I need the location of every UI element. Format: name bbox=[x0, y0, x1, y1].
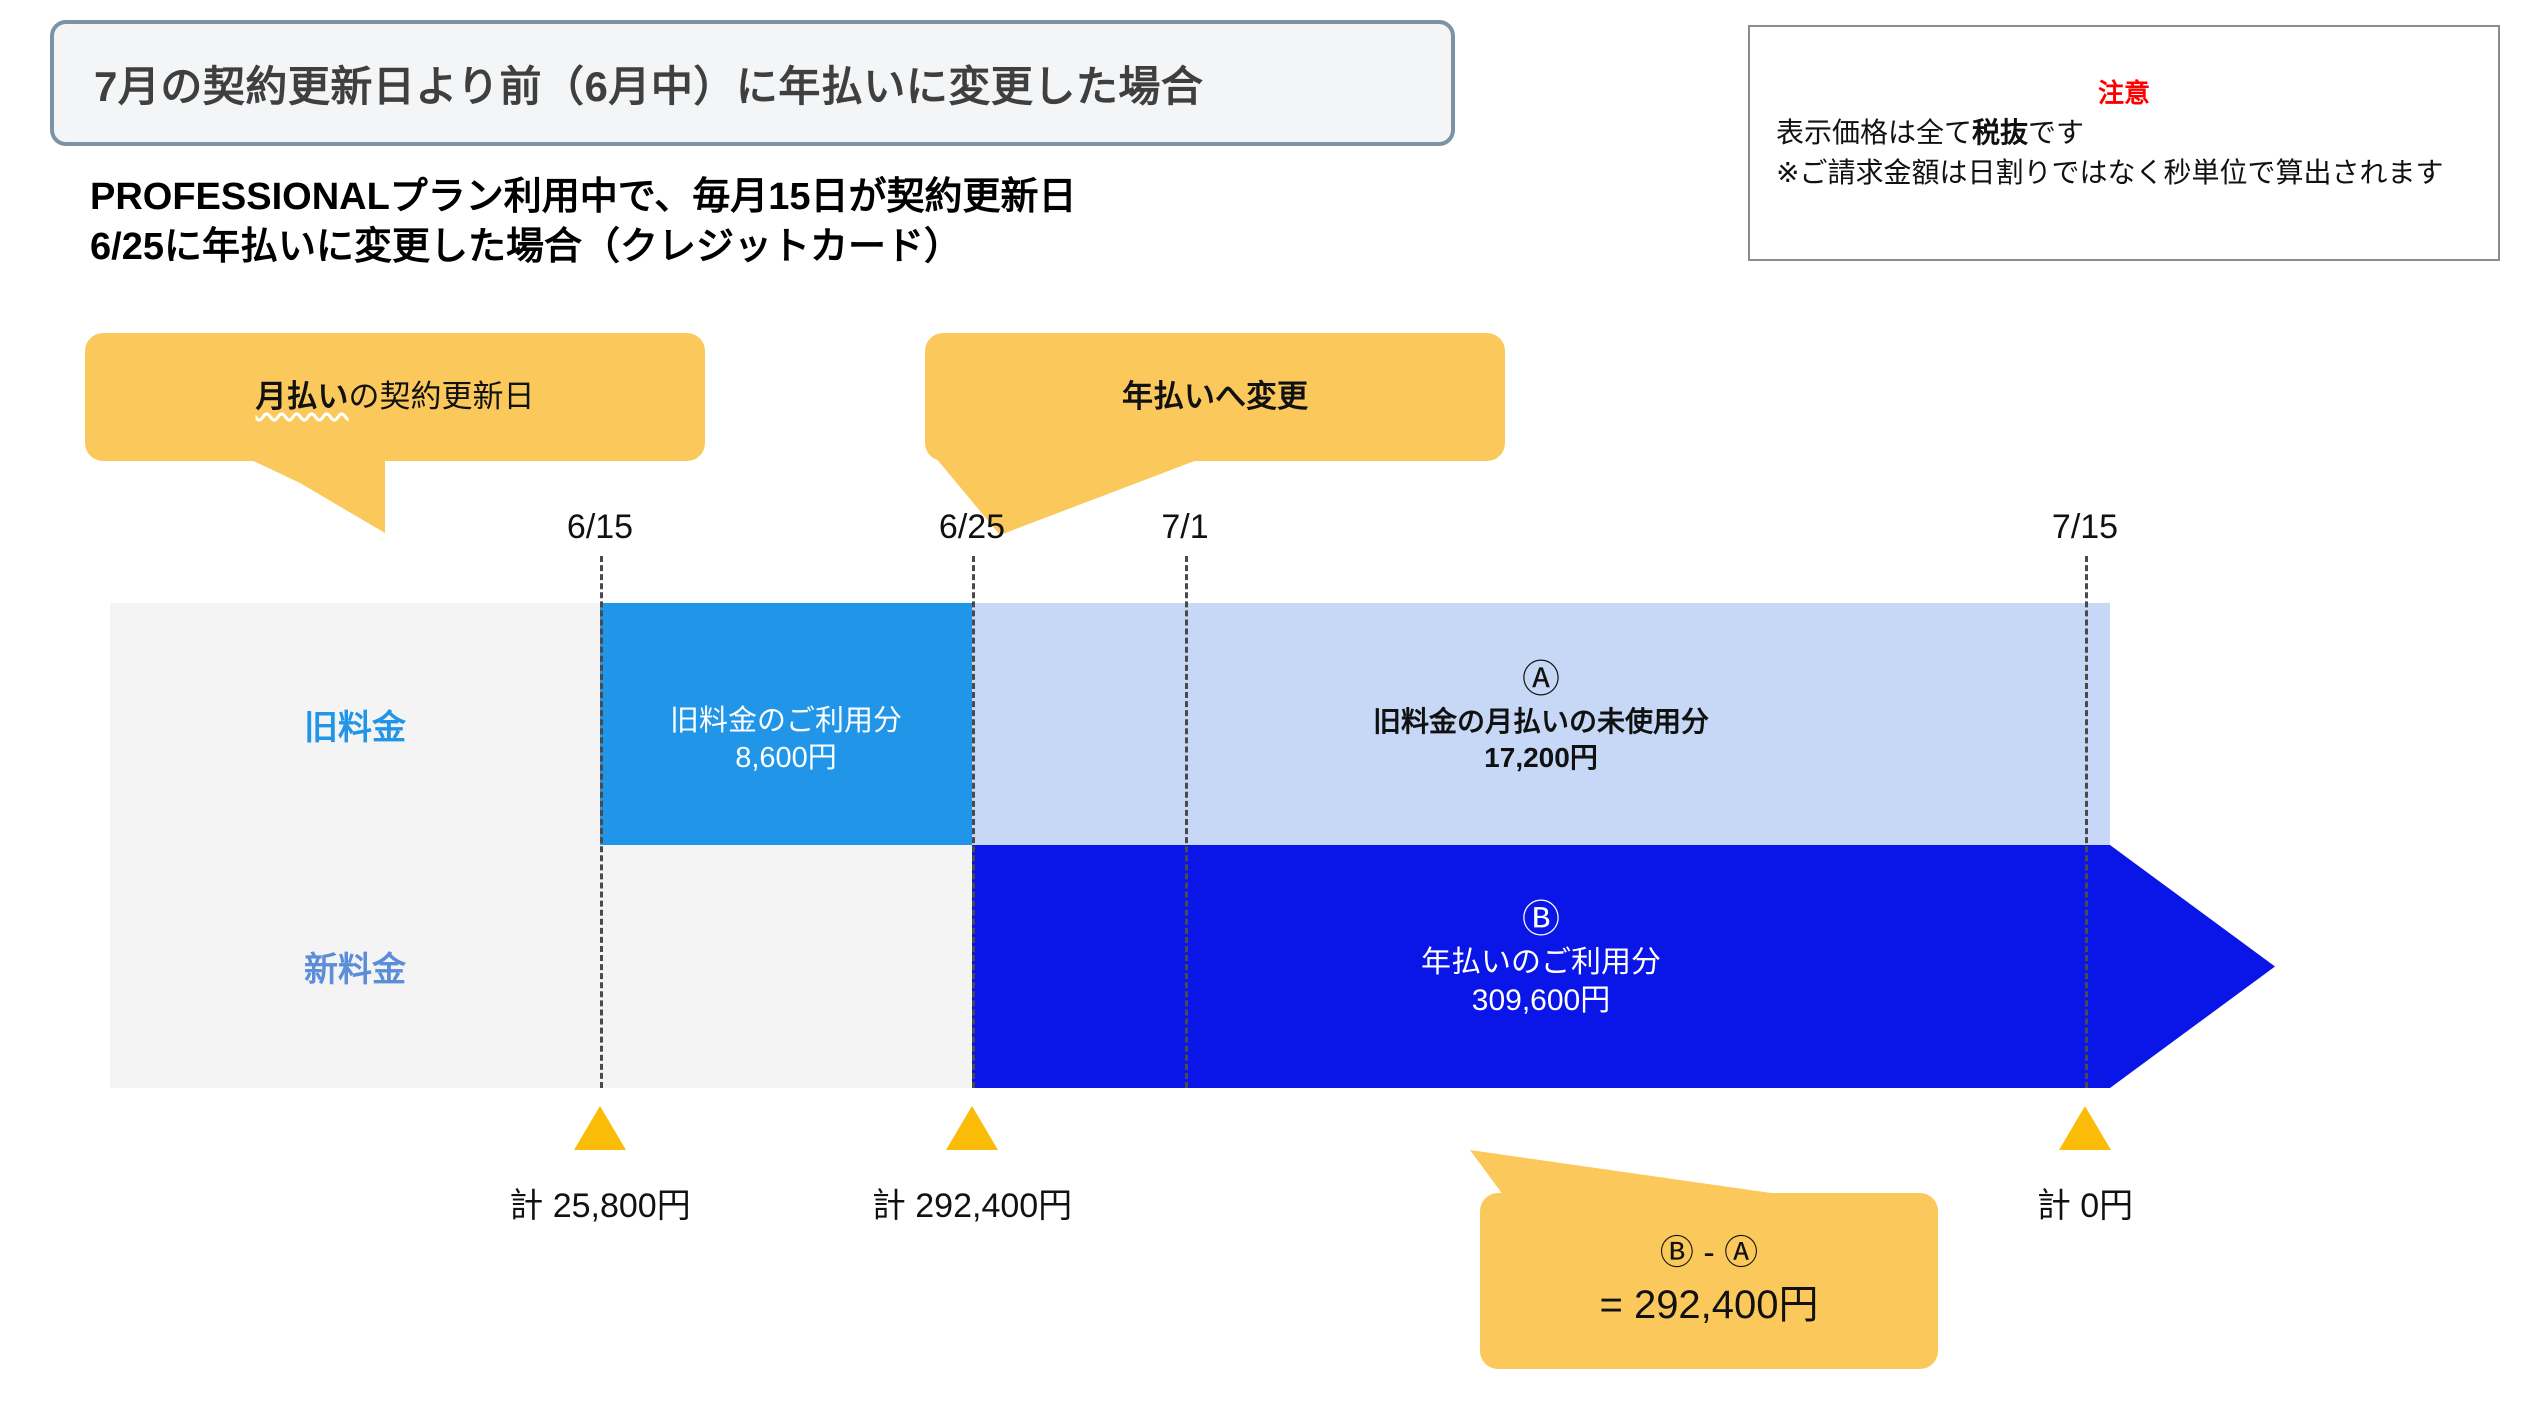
total-marker-0625 bbox=[946, 1106, 998, 1150]
callout-monthly-rest: の契約更新日 bbox=[349, 379, 535, 414]
subtitle-block: PROFESSIONALプラン利用中で、毎月15日が契約更新日 6/25に年払い… bbox=[90, 172, 1590, 272]
subtitle-line-1: PROFESSIONALプラン利用中で、毎月15日が契約更新日 bbox=[90, 172, 1590, 222]
total-label-0615: 計 25,800円 bbox=[509, 1178, 690, 1227]
callout-monthly-text: 月払いの契約更新日 bbox=[256, 378, 535, 417]
bar-label-old-unused-amount: 17,200円 bbox=[972, 740, 2110, 776]
row-label-old-fee: 旧料金 bbox=[304, 700, 406, 749]
page-title: 7月の契約更新日より前（6月中）に年払いに変更した場合 bbox=[94, 53, 1203, 114]
header-title-box: 7月の契約更新日より前（6月中）に年払いに変更した場合 bbox=[50, 20, 1455, 146]
date-label-0715: 7/15 bbox=[2052, 508, 2118, 547]
date-label-0701: 7/1 bbox=[1161, 508, 1208, 547]
marker-circled-b: Ⓑ bbox=[972, 900, 2110, 942]
bar-label-old-unused-title: 旧料金の月払いの未使用分 bbox=[972, 704, 2110, 740]
callout-annual-change: 年払いへ変更 bbox=[925, 333, 1505, 461]
callout-monthly-bold: 月払い bbox=[256, 379, 349, 414]
callout-difference-expression: Ⓑ - Ⓐ bbox=[1660, 1232, 1758, 1275]
bar-label-new-annual-title: 年払いのご利用分 bbox=[972, 944, 2110, 982]
callout-difference-result: = 292,400円 bbox=[1599, 1280, 1818, 1330]
notice-line-1-bold: 税抜 bbox=[1972, 117, 2028, 148]
bar-label-new-annual-amount: 309,600円 bbox=[972, 982, 2110, 1020]
notice-line-1-pre: 表示価格は全て bbox=[1776, 117, 1972, 148]
bar-label-old-used: 旧料金のご利用分 8,600円 bbox=[600, 703, 972, 777]
bar-label-old-used-title: 旧料金のご利用分 bbox=[600, 703, 972, 740]
notice-line-1-post: です bbox=[2028, 117, 2084, 148]
row-label-new-fee: 新料金 bbox=[304, 942, 406, 991]
total-marker-0615 bbox=[574, 1106, 626, 1150]
notice-line-1: 表示価格は全て税抜です bbox=[1776, 111, 2084, 151]
callout-difference: Ⓑ - Ⓐ = 292,400円 bbox=[1480, 1193, 1938, 1369]
marker-circled-a: Ⓐ bbox=[972, 660, 2110, 702]
notice-title: 注意 bbox=[1750, 73, 2498, 110]
total-label-0625: 計 292,400円 bbox=[872, 1178, 1072, 1227]
notice-line-2: ※ご請求金額は日割りではなく秒単位で算出されます bbox=[1776, 151, 2443, 191]
bar-label-new-annual: Ⓑ 年払いのご利用分 309,600円 bbox=[972, 900, 2110, 1021]
notice-box: 注意 表示価格は全て税抜です ※ご請求金額は日割りではなく秒単位で算出されます bbox=[1748, 25, 2500, 261]
date-label-0625: 6/25 bbox=[939, 508, 1005, 547]
bar-label-old-unused: Ⓐ 旧料金の月払いの未使用分 17,200円 bbox=[972, 660, 2110, 775]
date-label-0615: 6/15 bbox=[567, 508, 633, 547]
callout-monthly-tail bbox=[85, 455, 485, 535]
total-marker-0715 bbox=[2059, 1106, 2111, 1150]
callout-annual-text: 年払いへ変更 bbox=[1122, 378, 1308, 417]
callout-monthly-renewal: 月払いの契約更新日 bbox=[85, 333, 705, 461]
bar-label-old-used-amount: 8,600円 bbox=[600, 740, 972, 777]
subtitle-line-2: 6/25に年払いに変更した場合（クレジットカード） bbox=[90, 222, 1590, 272]
total-label-0715: 計 0円 bbox=[2037, 1178, 2133, 1227]
tick-line-0615 bbox=[600, 556, 603, 1088]
